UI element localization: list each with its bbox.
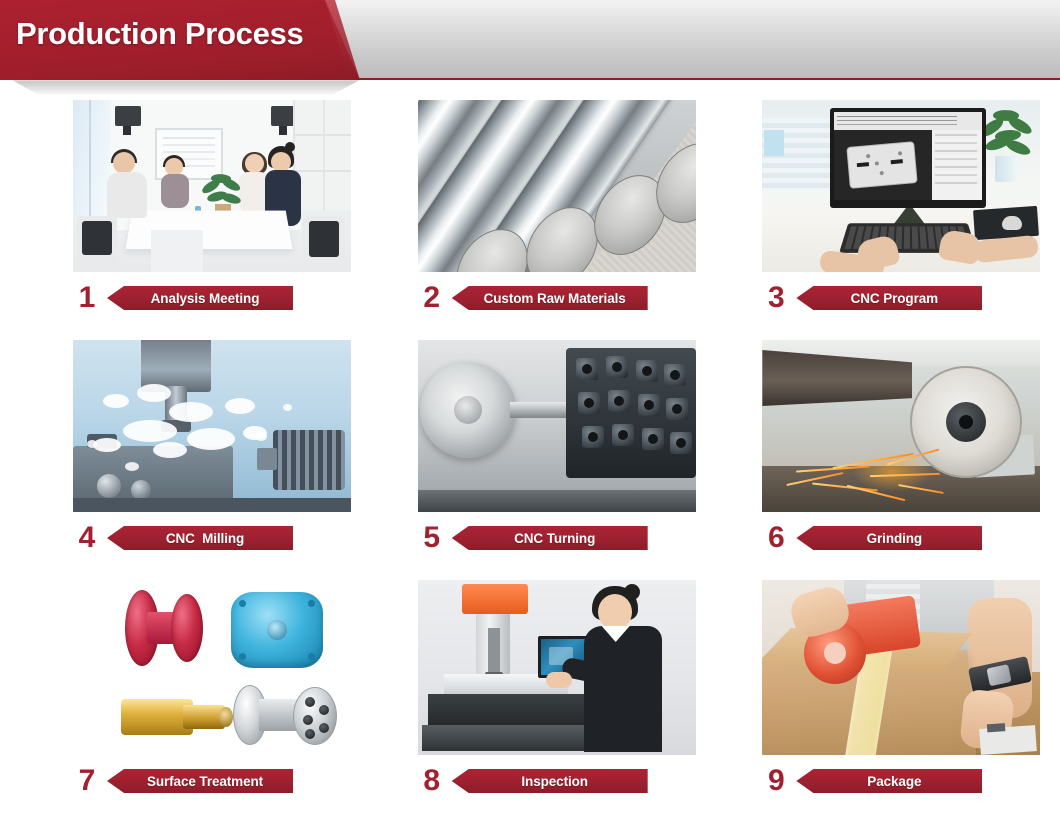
chip-tray-shape: [418, 490, 696, 512]
coolant-spray-shape: [93, 380, 293, 464]
step-number: 1: [73, 282, 101, 314]
step-label-row: 1 Analysis Meeting: [73, 282, 371, 314]
step-label: Surface Treatment: [147, 774, 263, 789]
blue-anodized-cover-part: [231, 592, 323, 668]
step-number: 4: [73, 522, 101, 554]
process-step-8[interactable]: 8 Inspection: [418, 580, 716, 820]
process-step-3[interactable]: 3 CNC Program: [762, 100, 1060, 340]
chair-shape: [303, 216, 345, 266]
process-row-2: 4 CNC Milling: [0, 340, 1060, 580]
grinding-sparks-photo: [762, 340, 1040, 512]
process-step-6[interactable]: 6 Grinding: [762, 340, 1060, 580]
step-ribbon[interactable]: CNC Milling: [107, 526, 293, 550]
cmm-head-shape: [462, 584, 528, 614]
process-step-grid: 1 Analysis Meeting 2: [0, 95, 1060, 820]
brass-valve-part: [121, 693, 231, 741]
step-label-row: 2 Custom Raw Materials: [418, 282, 716, 314]
step-label: CNC Program: [851, 291, 938, 306]
step-ribbon[interactable]: Custom Raw Materials: [452, 286, 648, 310]
step-ribbon[interactable]: Analysis Meeting: [107, 286, 293, 310]
sticky-note-shape: [764, 130, 784, 156]
step-number: 2: [418, 282, 446, 314]
process-step-5[interactable]: 5 CNC Turning: [418, 340, 716, 580]
step-number: 6: [762, 522, 790, 554]
step-ribbon[interactable]: CNC Turning: [452, 526, 648, 550]
step-number: 3: [762, 282, 790, 314]
step-label-row: 9 Package: [762, 765, 1060, 797]
step-label: Custom Raw Materials: [484, 291, 626, 306]
step-ribbon[interactable]: Grinding: [796, 526, 982, 550]
step-label: Grinding: [867, 531, 922, 546]
shelf-shape: [293, 100, 351, 210]
step-label: CNC Milling: [166, 531, 244, 546]
carton-taping-photo: [762, 580, 1040, 755]
step-label-row: 5 CNC Turning: [418, 522, 716, 554]
table-base-shape: [151, 230, 203, 272]
cad-toolbar-shape: [834, 112, 982, 130]
step-label-row: 8 Inspection: [418, 765, 716, 797]
page-title: Production Process: [16, 12, 303, 56]
clipboard-shape: [980, 725, 1038, 755]
cad-part-drawing: [847, 141, 918, 189]
machine-base-shape: [73, 498, 351, 512]
process-row-3: 7 Surface Treatment: [0, 580, 1060, 820]
step-label-row: 6 Grinding: [762, 522, 1060, 554]
process-step-7[interactable]: 7 Surface Treatment: [73, 580, 371, 820]
cmm-inspection-photo: [418, 580, 696, 755]
speaker-icon: [115, 106, 141, 126]
step-label: CNC Turning: [514, 531, 595, 546]
step-number: 8: [418, 765, 446, 797]
screen-shape: [834, 112, 982, 200]
step-ribbon[interactable]: CNC Program: [796, 286, 982, 310]
step-number: 5: [418, 522, 446, 554]
step-ribbon[interactable]: Package: [796, 769, 982, 793]
knob-shape: [97, 474, 121, 498]
knob-shape: [131, 480, 151, 500]
step-label-row: 7 Surface Treatment: [73, 765, 371, 797]
step-ribbon[interactable]: Surface Treatment: [107, 769, 293, 793]
plant-shape: [201, 172, 245, 216]
process-step-2[interactable]: 2 Custom Raw Materials: [418, 100, 716, 340]
step-label: Analysis Meeting: [151, 291, 260, 306]
operator-shape: [580, 586, 690, 752]
process-row-1: 1 Analysis Meeting 2: [0, 100, 1060, 340]
granite-base-shape: [428, 694, 584, 728]
step-number: 9: [762, 765, 790, 797]
tool-turret-shape: [566, 348, 696, 478]
cad-workstation-photo: [762, 100, 1040, 272]
plant-shape: [977, 108, 1037, 198]
page-header: Production Process: [0, 0, 1060, 95]
step-label: Package: [867, 774, 921, 789]
process-step-1[interactable]: 1 Analysis Meeting: [73, 100, 371, 340]
monitor-shape: [830, 108, 986, 208]
step-number: 7: [73, 765, 101, 797]
machine-base-shape: [422, 725, 594, 751]
cad-viewport-shape: [834, 130, 932, 200]
step-label-row: 3 CNC Program: [762, 282, 1060, 314]
cnc-milling-machine-photo: [73, 340, 351, 512]
cad-properties-panel: [932, 130, 982, 200]
red-anodized-hub-part: [125, 590, 205, 668]
meeting-room-photo: [73, 100, 351, 272]
anodized-parts-photo: [73, 580, 351, 755]
step-ribbon[interactable]: Inspection: [452, 769, 648, 793]
mouse-shape: [1002, 216, 1022, 230]
cnc-lathe-turret-photo: [418, 340, 696, 512]
header-drop-shadow: [12, 80, 362, 95]
stainless-spool-part: [233, 685, 337, 747]
chair-shape: [77, 216, 117, 264]
window-shape: [73, 100, 111, 220]
probe-shape: [488, 628, 500, 674]
step-label-row: 4 CNC Milling: [73, 522, 371, 554]
sparks-shape: [786, 448, 956, 508]
lathe-chuck-shape: [420, 362, 516, 458]
step-label: Inspection: [521, 774, 588, 789]
steel-bars-photo: [418, 100, 696, 272]
process-step-9[interactable]: 9 Package: [762, 580, 1060, 820]
process-step-4[interactable]: 4 CNC Milling: [73, 340, 371, 580]
